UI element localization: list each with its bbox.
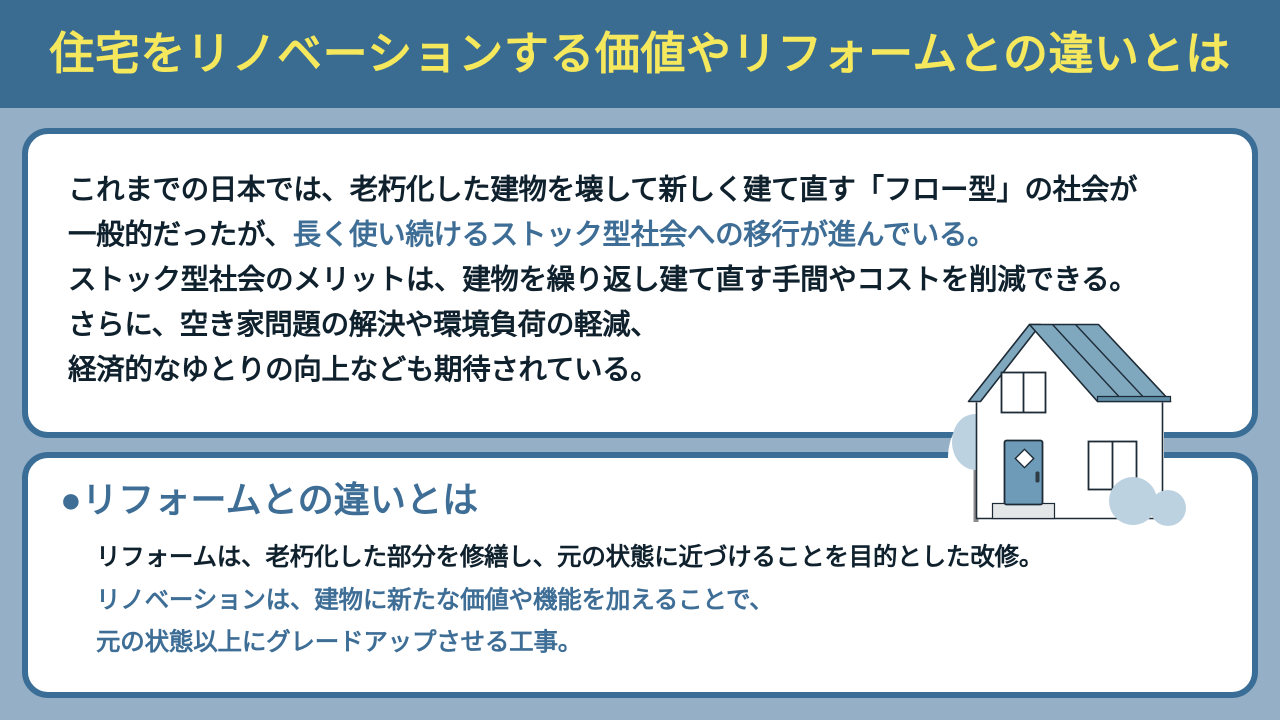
- intro-line-1: これまでの日本では、老朽化した建物を壊して新しく建て直す「フロー型」の社会が: [68, 176, 1137, 205]
- intro-line-3-segment-1: ストック型社会のメリットは、建物を繰り返し建て直す手間やコストを削減できる。: [68, 264, 1137, 296]
- intro-paragraph: これまでの日本では、老朽化した建物を壊して新しく建て直す「フロー型」の社会が 一…: [68, 176, 1137, 401]
- comparison-line-2: リノベーションは、建物に新たな価値や機能を加えることで、: [96, 589, 1043, 614]
- page-title: 住宅をリノベーションする価値やリフォームとの違いとは: [49, 31, 1230, 76]
- intro-panel: これまでの日本では、老朽化した建物を壊して新しく建て直す「フロー型」の社会が 一…: [22, 128, 1258, 438]
- section-heading-reform-difference: ●リフォームとの違いとは: [60, 482, 478, 518]
- intro-line-4: さらに、空き家問題の解決や環境負荷の軽減、: [68, 311, 1137, 340]
- intro-line-2-segment-2-highlight: 長く使い続けるストック型社会への移行が進んでいる。: [293, 219, 996, 251]
- comparison-panel: ●リフォームとの違いとは リフォームは、老朽化した部分を修繕し、元の状態に近づけ…: [22, 452, 1258, 698]
- comparison-line-1-segment-1: リフォームは、老朽化した部分を修繕し、元の状態に近づけることを目的とした改修。: [96, 544, 1043, 571]
- intro-line-5-segment-1: 経済的なゆとりの向上なども期待されている。: [68, 354, 658, 386]
- slide-root: 住宅をリノベーションする価値やリフォームとの違いとは これまでの日本では、老朽化…: [0, 0, 1280, 720]
- intro-line-5: 経済的なゆとりの向上なども期待されている。: [68, 356, 1137, 385]
- comparison-paragraph: リフォームは、老朽化した部分を修繕し、元の状態に近づけることを目的とした改修。 …: [96, 546, 1043, 674]
- comparison-line-1: リフォームは、老朽化した部分を修繕し、元の状態に近づけることを目的とした改修。: [96, 546, 1043, 571]
- comparison-line-3-segment-1-highlight: 元の状態以上にグレードアップさせる工事。: [96, 629, 582, 656]
- intro-line-1-segment-1: これまでの日本では、老朽化した建物を壊して新しく建て直す「フロー型」の社会が: [68, 174, 1137, 206]
- comparison-line-3: 元の状態以上にグレードアップさせる工事。: [96, 631, 1043, 656]
- intro-line-2-segment-1: 一般的だったが、: [68, 219, 293, 251]
- title-bar: 住宅をリノベーションする価値やリフォームとの違いとは: [0, 0, 1280, 108]
- intro-line-2: 一般的だったが、長く使い続けるストック型社会への移行が進んでいる。: [68, 221, 1137, 250]
- comparison-line-2-segment-1-highlight: リノベーションは、建物に新たな価値や機能を加えることで、: [96, 587, 774, 614]
- intro-line-3: ストック型社会のメリットは、建物を繰り返し建て直す手間やコストを削減できる。: [68, 266, 1137, 295]
- intro-line-4-segment-1: さらに、空き家問題の解決や環境負荷の軽減、: [68, 309, 658, 341]
